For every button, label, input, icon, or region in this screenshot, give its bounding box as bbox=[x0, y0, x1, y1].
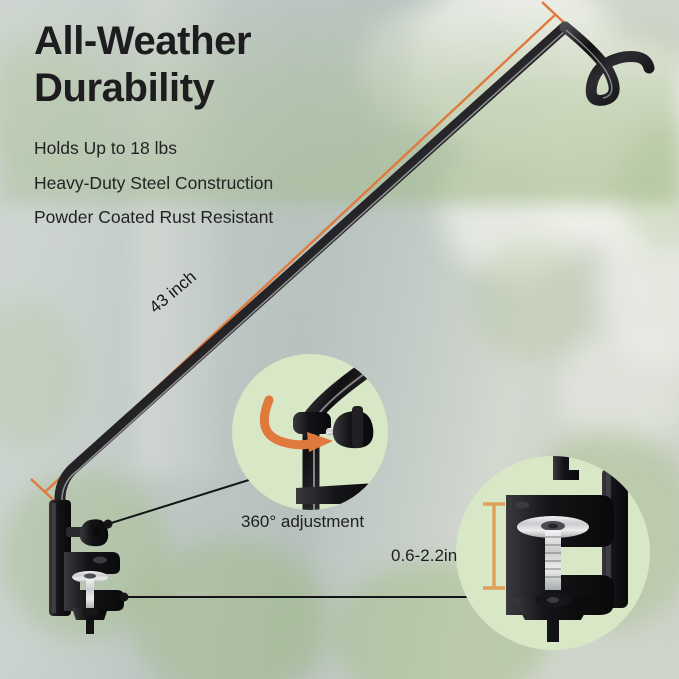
inset-360-adjustment bbox=[232, 352, 398, 512]
page-title: All-Weather Durability bbox=[34, 18, 364, 112]
s-hook-icon bbox=[565, 27, 649, 100]
feature-item: Heavy-Duty Steel Construction bbox=[34, 175, 364, 193]
inset-clamp-range bbox=[456, 440, 650, 650]
feature-list: Holds Up to 18 lbs Heavy-Duty Steel Cons… bbox=[34, 140, 364, 244]
headline-line-1: All-Weather bbox=[34, 18, 364, 65]
feature-item: Powder Coated Rust Resistant bbox=[34, 209, 364, 227]
leader-dot-clamp bbox=[120, 593, 129, 602]
clamp-assembly bbox=[49, 500, 124, 634]
headline-line-2: Durability bbox=[34, 65, 364, 112]
swivel-label: 360° adjustment bbox=[241, 512, 364, 532]
leader-dot-swivel bbox=[104, 520, 113, 529]
product-infographic: All-Weather Durability Holds Up to 18 lb… bbox=[0, 0, 679, 679]
feature-item: Holds Up to 18 lbs bbox=[34, 140, 364, 158]
clamp-range-label: 0.6-2.2in bbox=[391, 546, 457, 566]
